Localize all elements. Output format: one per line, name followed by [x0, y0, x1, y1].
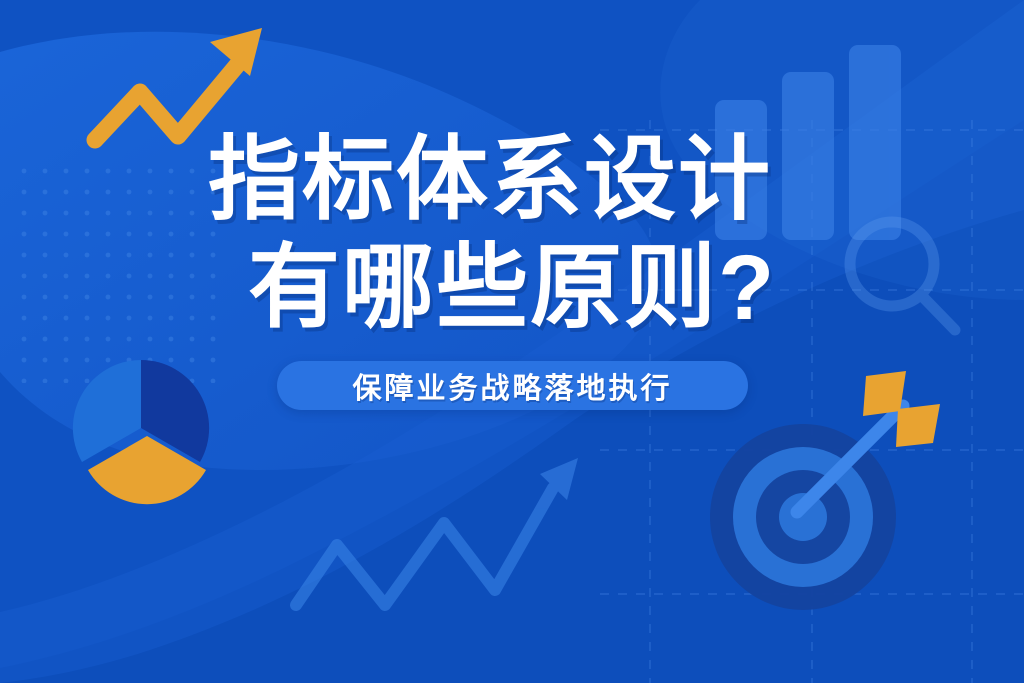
orange-arrow-path	[95, 64, 238, 140]
growth-arrow-up-right	[0, 0, 1024, 683]
subtitle-text: 保障业务战略落地执行	[277, 361, 748, 410]
poster-canvas: 指标体系设计 有哪些原则? 保障业务战略落地执行	[0, 0, 1024, 683]
